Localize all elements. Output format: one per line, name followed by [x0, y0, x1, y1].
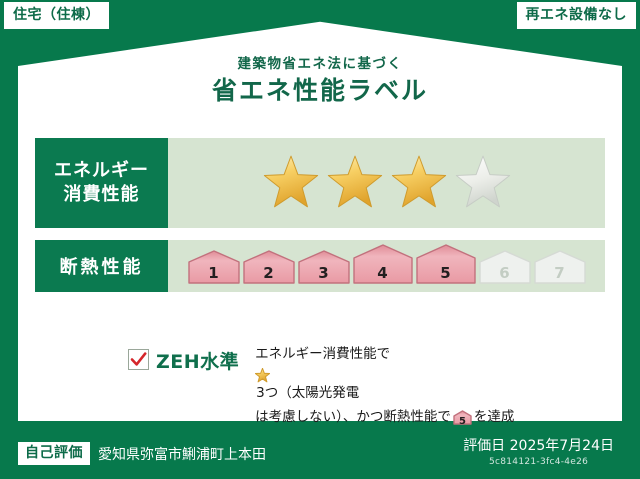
energy-label-line-2: 消費性能: [54, 183, 149, 207]
insulation-grade-badge-1: 1: [188, 250, 240, 288]
page-title: 省エネ性能ラベル: [0, 75, 640, 106]
title-block: 建築物省エネ法に基づく 省エネ性能ラベル: [0, 56, 640, 106]
inline-grade-badge: 5: [453, 410, 472, 432]
energy-rating-area: [168, 138, 605, 228]
zeh-standard-block: ZEH水準 エネルギー消費性能で3つ（太陽光発電 は考慮しない）、かつ断熱性能で…: [128, 344, 514, 432]
inline-star-icon: [255, 368, 514, 383]
insulation-performance-row: 断熱性能 1234567: [35, 240, 605, 292]
star-rating: [263, 155, 511, 211]
check-icon: [129, 350, 148, 369]
building-type-tag: 住宅（住棟）: [4, 2, 109, 29]
renewable-equipment-tag: 再エネ設備なし: [517, 2, 637, 29]
insulation-performance-label-box: 断熱性能: [35, 240, 168, 292]
zeh-desc-1-post: 3つ（太陽光発電: [256, 385, 359, 401]
zeh-description: エネルギー消費性能で3つ（太陽光発電 は考慮しない）、かつ断熱性能で5を達成: [255, 344, 514, 432]
insulation-grade-strip: 1234567: [188, 244, 586, 288]
zeh-label: ZEH水準: [156, 347, 239, 374]
energy-label-line-1: エネルギー: [54, 159, 149, 183]
insulation-rating-area: 1234567: [168, 240, 605, 292]
evaluation-date: 評価日 2025年7月24日: [463, 438, 614, 456]
star-2-icon: [327, 155, 383, 211]
insulation-grade-badge-7: 7: [534, 250, 586, 288]
star-3-icon: [391, 155, 447, 211]
insulation-grade-badge-2: 2: [243, 250, 295, 288]
energy-performance-label: 住宅（住棟） 再エネ設備なし 建築物省エネ法に基づく 省エネ性能ラベル エネルギ…: [0, 0, 640, 479]
zeh-desc-2-pre: は考慮しない）、かつ断熱性能で: [255, 409, 451, 425]
star-1-icon: [263, 155, 319, 211]
insulation-grade-badge-6: 6: [479, 250, 531, 288]
insulation-grade-badge-3: 3: [298, 250, 350, 288]
zeh-checkbox: [128, 349, 149, 370]
zeh-description-line-1: エネルギー消費性能で3つ（太陽光発電: [255, 344, 514, 407]
insulation-grade-badge-5: 5: [416, 244, 476, 288]
footer-date-block: 評価日 2025年7月24日 5c814121-3fc4-4e26: [463, 438, 614, 468]
self-evaluation-chip: 自己評価: [18, 442, 90, 465]
zeh-desc-1-pre: エネルギー消費性能で: [255, 346, 390, 362]
star-4-icon: [455, 155, 511, 211]
document-id: 5c814121-3fc4-4e26: [463, 457, 614, 467]
insulation-grade-badge-4: 4: [353, 244, 413, 288]
zeh-description-line-2: は考慮しない）、かつ断熱性能で5を達成: [255, 407, 514, 432]
title-subtitle: 建築物省エネ法に基づく: [0, 56, 640, 72]
energy-performance-label-box: エネルギー 消費性能: [35, 138, 168, 228]
inline-grade-number: 5: [453, 414, 472, 430]
property-address: 愛知県弥富市鯏浦町上本田: [98, 444, 266, 464]
footer-evaluation: 自己評価 愛知県弥富市鯏浦町上本田: [18, 442, 266, 465]
zeh-desc-2-post: を達成: [474, 409, 515, 425]
energy-performance-row: エネルギー 消費性能: [35, 138, 605, 228]
